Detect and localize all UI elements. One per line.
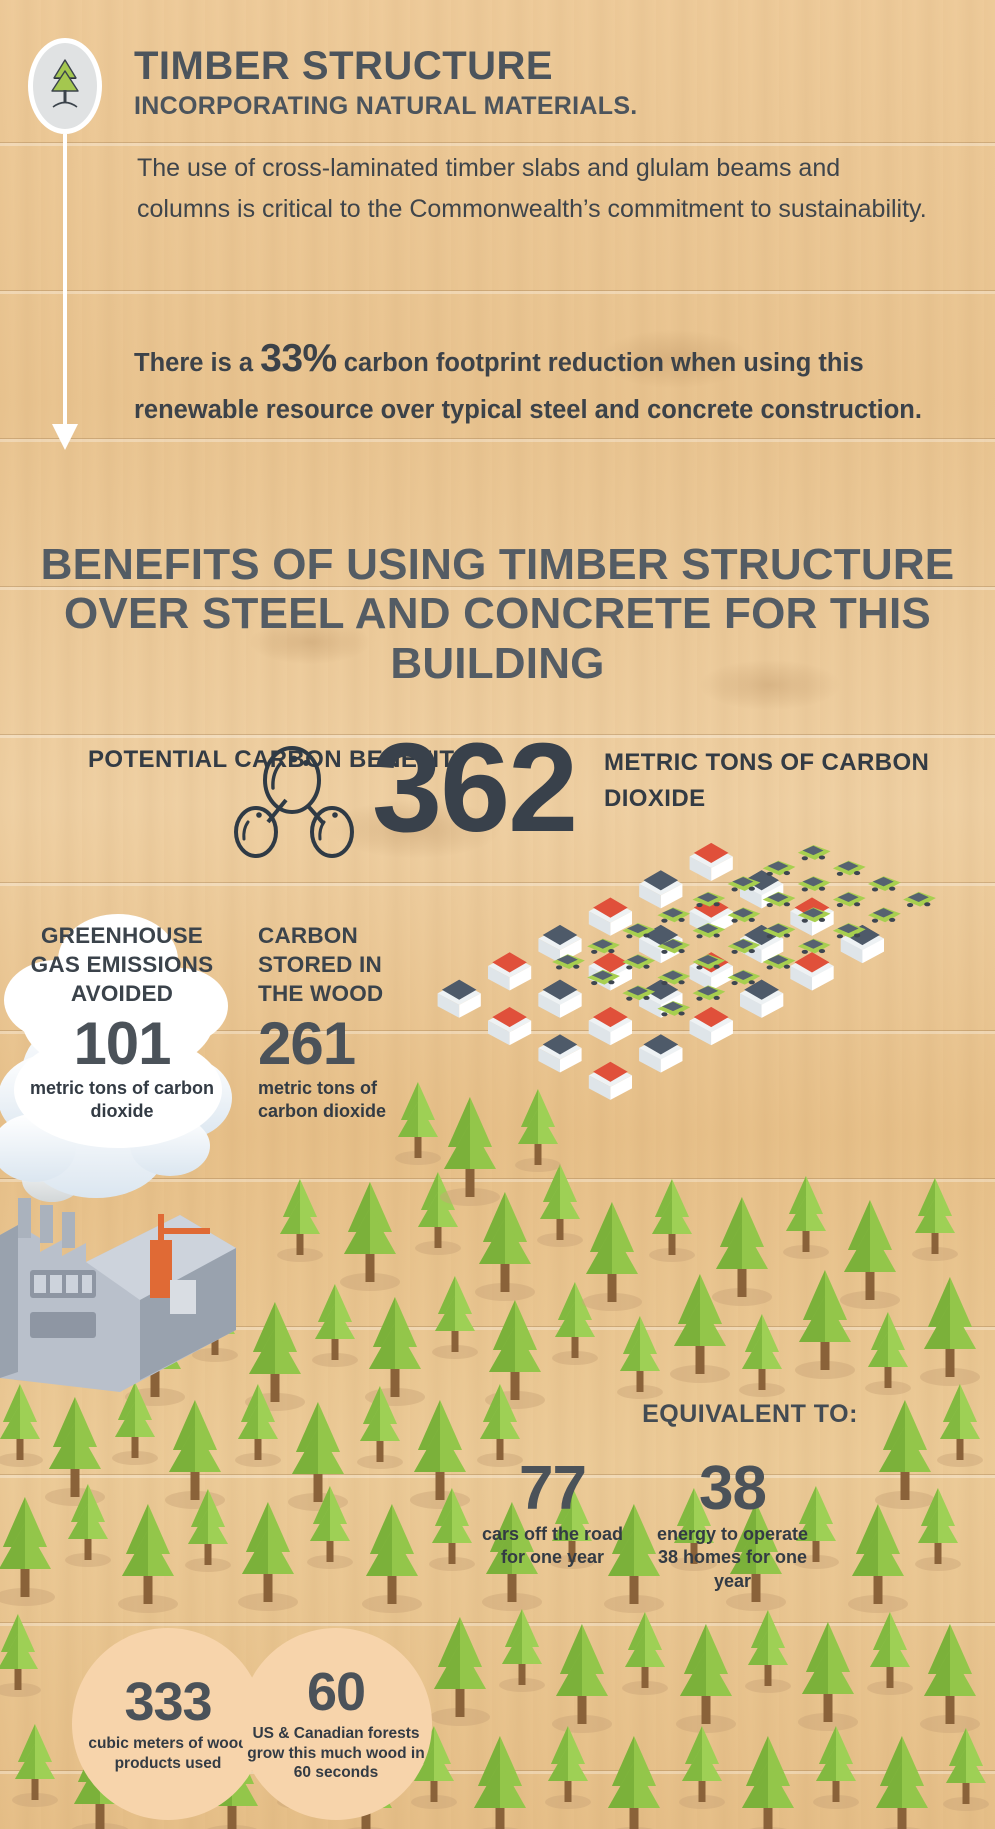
equivalent-item-cars: 77 cars off the road for one year	[470, 1456, 635, 1570]
header-titles: TIMBER STRUCTURE INCORPORATING NATURAL M…	[134, 46, 638, 121]
homes-caption: energy to operate 38 homes for one year	[645, 1523, 820, 1593]
greenhouse-heading: GREENHOUSE GAS EMISSIONS AVOIDED	[22, 922, 222, 1008]
wood-products-caption: cubic meters of wood products used	[72, 1734, 264, 1773]
callout-line	[63, 134, 67, 434]
equivalent-item-homes: 38 energy to operate 38 homes for one ye…	[645, 1456, 820, 1593]
cars-value: 77	[470, 1456, 635, 1521]
stored-carbon-stat-block: CARBON STORED IN THE WOOD 261 metric ton…	[258, 922, 426, 1123]
cars-grid-illustration	[552, 845, 936, 1016]
greenhouse-value: 101	[22, 1012, 222, 1077]
infographic-poster: TIMBER STRUCTURE INCORPORATING NATURAL M…	[0, 0, 995, 1829]
timber-badge	[28, 38, 102, 134]
page-title: TIMBER STRUCTURE	[134, 46, 638, 88]
reduction-statement: There is a 33% carbon footprint reductio…	[134, 328, 924, 430]
homes-value: 38	[645, 1456, 820, 1521]
forest-growth-circle: 60 US & Canadian forests grow this much …	[240, 1628, 432, 1820]
intro-paragraph: The use of cross-laminated timber slabs …	[137, 148, 927, 230]
callout-arrow-icon	[52, 424, 78, 450]
page-subtitle: INCORPORATING NATURAL MATERIALS.	[134, 92, 638, 121]
cars-caption: cars off the road for one year	[470, 1523, 635, 1570]
greenhouse-caption: metric tons of carbon dioxide	[22, 1077, 222, 1123]
wood-products-value: 333	[124, 1675, 211, 1729]
reduction-percent: 33%	[260, 337, 337, 380]
equivalent-heading: EQUIVALENT TO:	[540, 1400, 960, 1429]
greenhouse-stat-block: GREENHOUSE GAS EMISSIONS AVOIDED 101 met…	[22, 922, 222, 1123]
co2-molecule-icon	[228, 744, 356, 860]
forest-growth-caption: US & Canadian forests grow this much woo…	[240, 1724, 432, 1782]
houses-grid-illustration	[438, 843, 884, 1100]
benefits-heading: BENEFITS OF USING TIMBER STRUCTURE OVER …	[0, 540, 995, 688]
carbon-benefit-value: 362	[372, 725, 576, 851]
wood-products-circle: 333 cubic meters of wood products used	[72, 1628, 264, 1820]
statement-lead: There is a	[134, 349, 260, 377]
carbon-benefit-unit: METRIC TONS OF CARBON DIOXIDE	[604, 745, 995, 818]
stored-carbon-heading: CARBON STORED IN THE WOOD	[258, 922, 426, 1008]
forest-growth-value: 60	[307, 1665, 365, 1719]
stored-carbon-value: 261	[258, 1012, 426, 1077]
evergreen-tree-icon	[45, 57, 85, 115]
stored-carbon-caption: metric tons of carbon dioxide	[258, 1077, 426, 1123]
